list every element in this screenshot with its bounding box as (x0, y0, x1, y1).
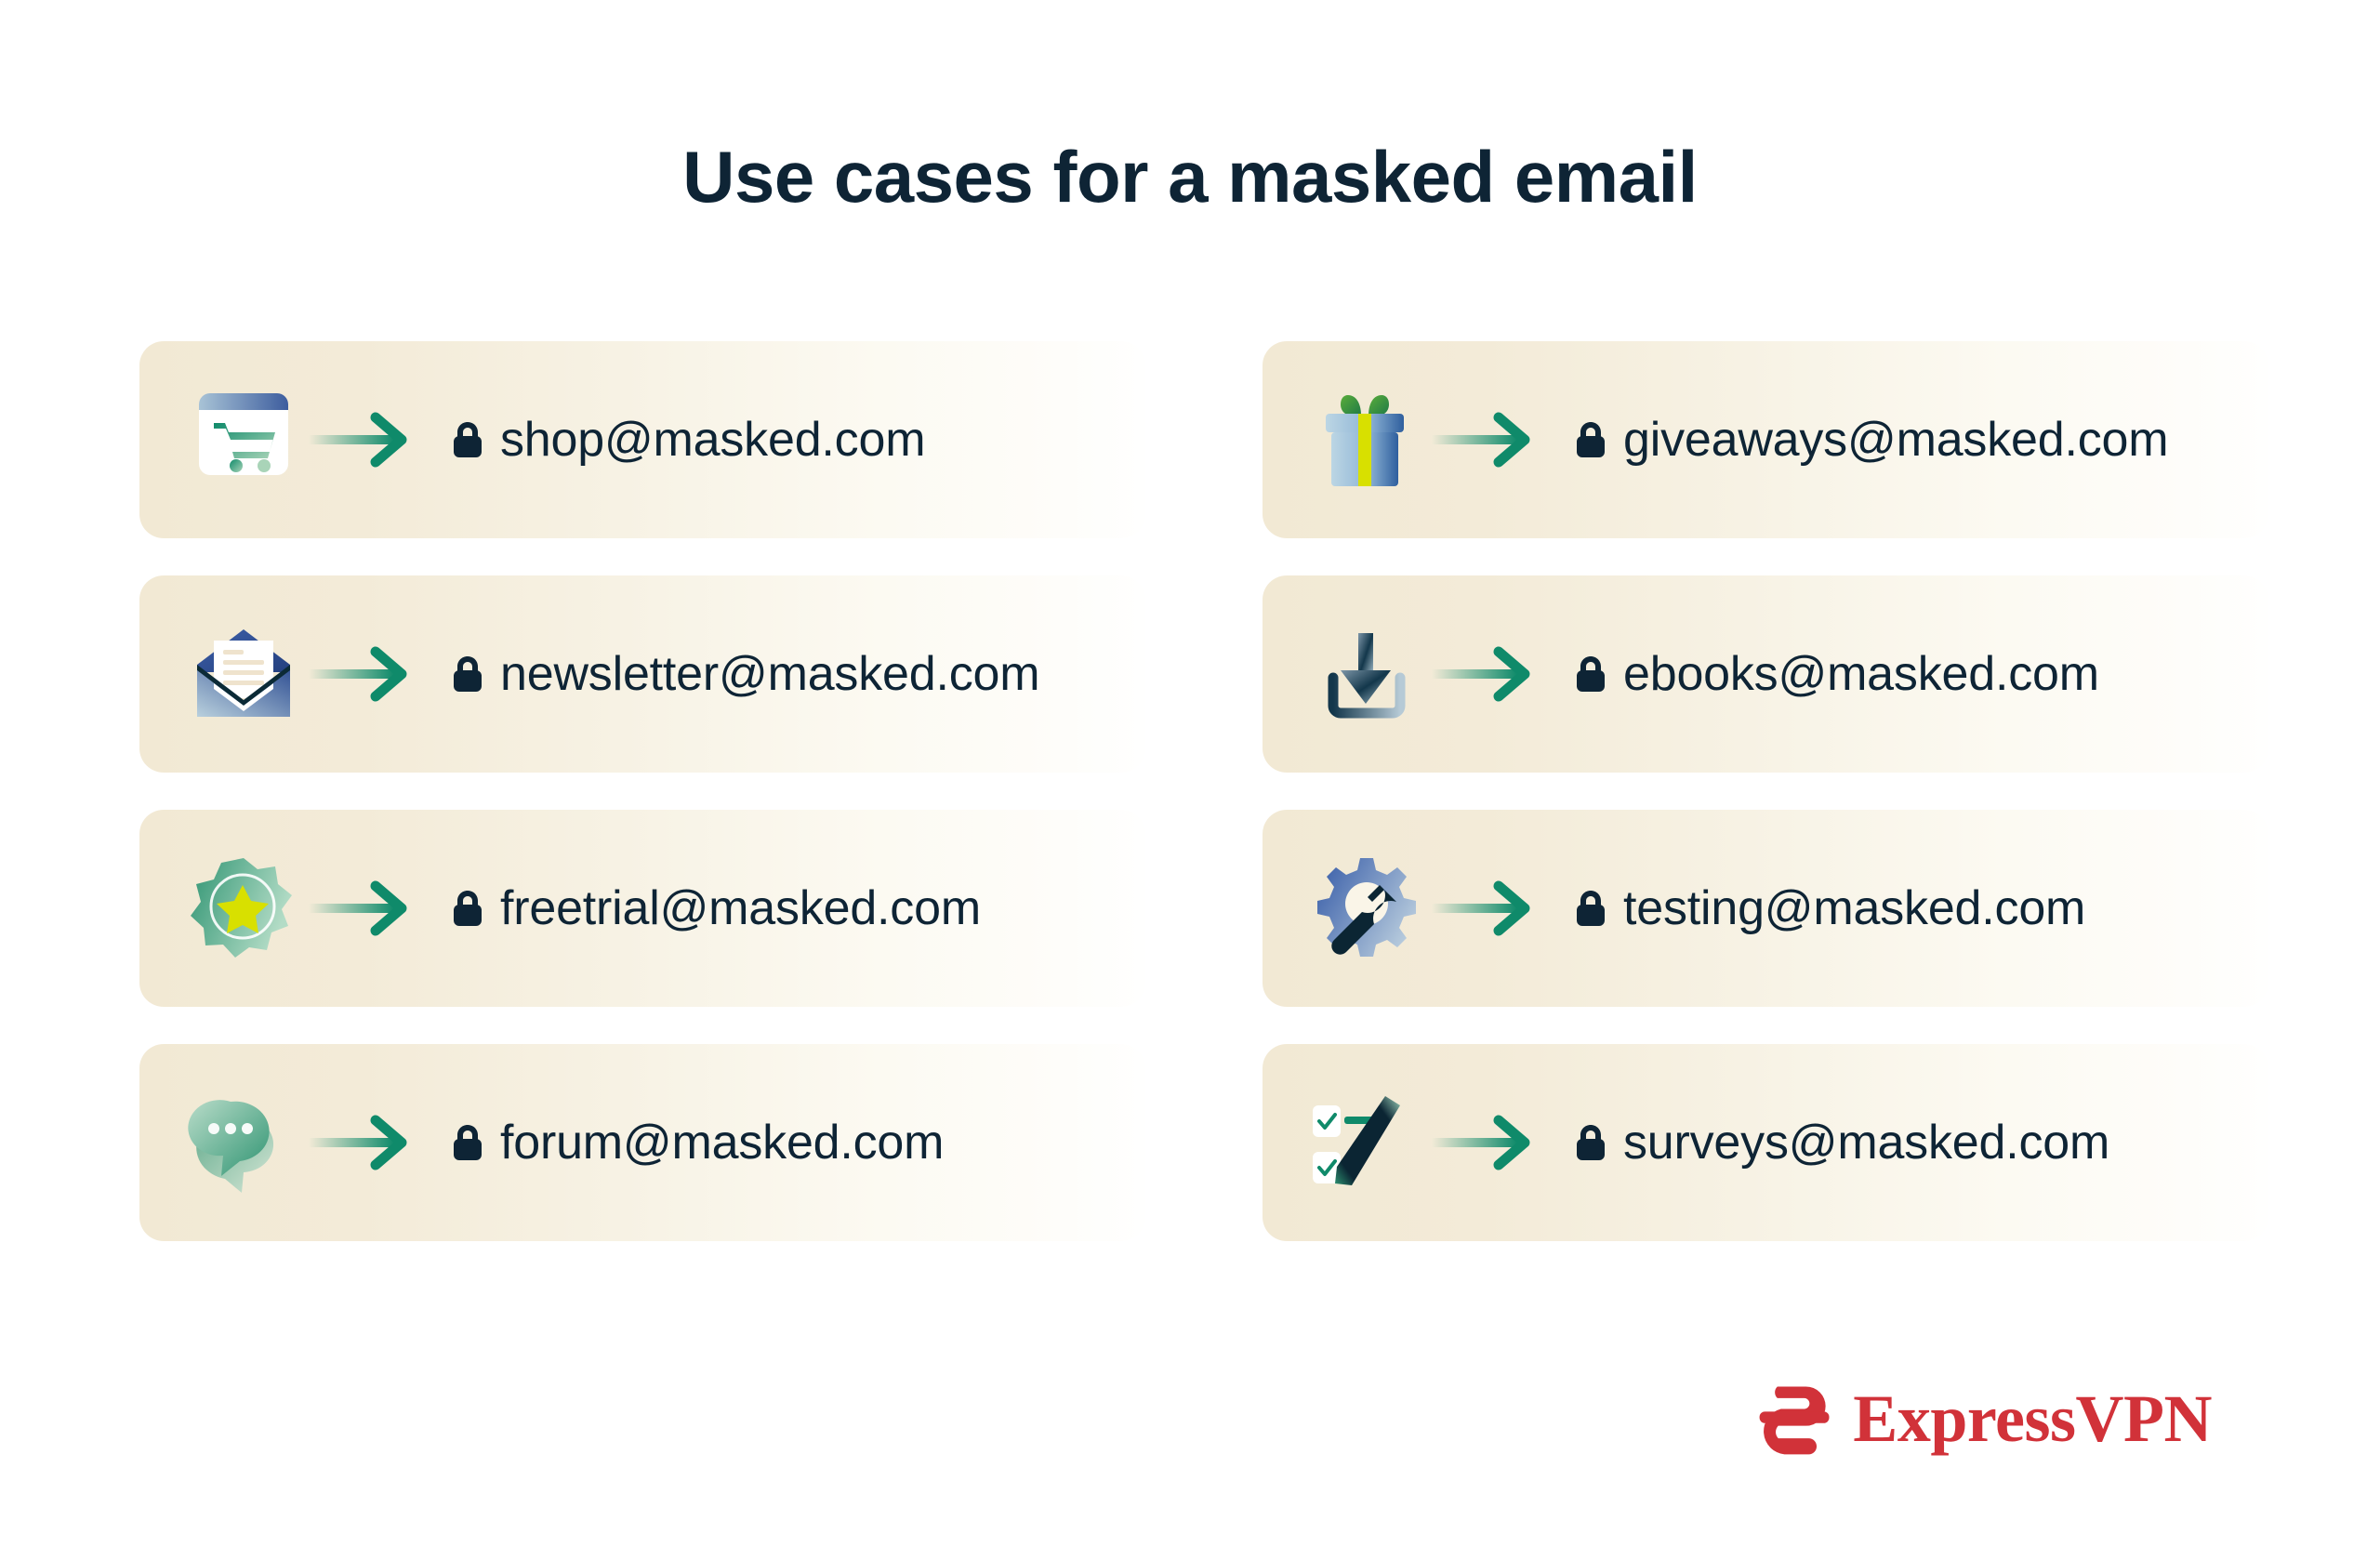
padlock-icon (452, 654, 483, 694)
gift-box-icon (1309, 382, 1424, 497)
gear-wrench-icon (1309, 851, 1424, 966)
shopping-cart-browser-icon (186, 382, 301, 497)
use-case-card: surveys@masked.com (1263, 1044, 2268, 1241)
checklist-pencil-icon (1309, 1085, 1424, 1200)
use-case-card: newsletter@masked.com (139, 575, 1145, 773)
email-address: forum@masked.com (500, 1115, 944, 1170)
arrow-right-icon (309, 1115, 409, 1170)
open-envelope-icon (186, 616, 301, 732)
padlock-icon (1575, 420, 1606, 459)
masked-email: forum@masked.com (452, 1115, 944, 1170)
masked-email: shop@masked.com (452, 412, 925, 468)
use-case-card: giveaways@masked.com (1263, 341, 2268, 538)
masked-email: testing@masked.com (1575, 880, 2085, 936)
email-address: testing@masked.com (1623, 880, 2085, 936)
masked-email: newsletter@masked.com (452, 646, 1039, 702)
masked-email: freetrial@masked.com (452, 880, 981, 936)
expressvpn-wordmark: ExpressVPN (1853, 1385, 2212, 1452)
email-address: newsletter@masked.com (500, 646, 1039, 702)
email-address: freetrial@masked.com (500, 880, 981, 936)
download-icon (1309, 616, 1424, 732)
use-case-card: testing@masked.com (1263, 810, 2268, 1007)
email-address: giveaways@masked.com (1623, 412, 2168, 468)
padlock-icon (452, 420, 483, 459)
use-case-card: ebooks@masked.com (1263, 575, 2268, 773)
use-case-card: freetrial@masked.com (139, 810, 1145, 1007)
chat-bubbles-icon (186, 1085, 301, 1200)
email-address: shop@masked.com (500, 412, 925, 468)
padlock-icon (452, 1123, 483, 1162)
use-case-card: shop@masked.com (139, 341, 1145, 538)
padlock-icon (1575, 654, 1606, 694)
arrow-right-icon (1432, 646, 1532, 702)
arrow-right-icon (1432, 880, 1532, 936)
masked-email: ebooks@masked.com (1575, 646, 2099, 702)
email-address: ebooks@masked.com (1623, 646, 2099, 702)
use-case-card: forum@masked.com (139, 1044, 1145, 1241)
arrow-right-icon (1432, 1115, 1532, 1170)
use-case-grid: shop@masked.com (139, 341, 2268, 1241)
email-address: surveys@masked.com (1623, 1115, 2109, 1170)
star-badge-icon (186, 851, 301, 966)
padlock-icon (452, 889, 483, 928)
arrow-right-icon (309, 646, 409, 702)
expressvpn-logo: ExpressVPN (1751, 1374, 2212, 1463)
expressvpn-logo-icon (1751, 1374, 1840, 1463)
padlock-icon (1575, 889, 1606, 928)
infographic-page: Use cases for a masked email (0, 0, 2380, 1560)
arrow-right-icon (309, 880, 409, 936)
padlock-icon (1575, 1123, 1606, 1162)
page-title: Use cases for a masked email (0, 138, 2380, 218)
arrow-right-icon (1432, 412, 1532, 468)
arrow-right-icon (309, 412, 409, 468)
masked-email: giveaways@masked.com (1575, 412, 2168, 468)
masked-email: surveys@masked.com (1575, 1115, 2109, 1170)
